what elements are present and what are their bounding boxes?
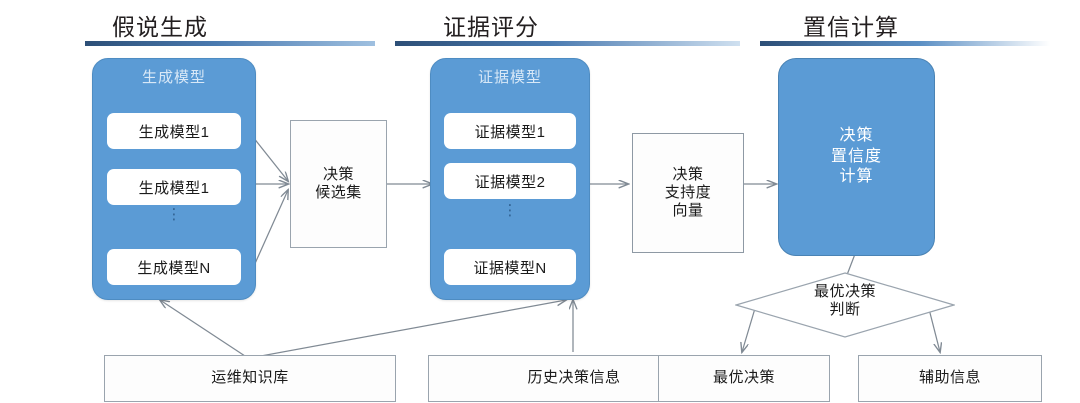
optimal-decision-judgment-line1: 最优决策 (735, 283, 955, 301)
generation-model-item-2[interactable]: 生成模型1 (107, 169, 241, 205)
optimal-decision-output-label: 最优决策 (713, 369, 775, 387)
evidence-model-group[interactable]: 证据模型 证据模型1 证据模型2 ⋮ 证据模型N (430, 58, 590, 300)
decision-confidence-line3: 计算 (839, 167, 873, 188)
optimal-decision-judgment-line2: 判断 (735, 301, 955, 319)
evidence-model-group-caption: 证据模型 (431, 66, 589, 87)
section-title-confidence: 置信计算 (803, 8, 899, 42)
section-rule-evidence (395, 41, 740, 46)
generation-model-group-caption: 生成模型 (93, 66, 255, 87)
decision-support-vector-line3: 向量 (672, 202, 703, 220)
auxiliary-info-output-label: 辅助信息 (919, 369, 981, 387)
decision-confidence-line1: 决策 (839, 126, 873, 147)
decision-confidence-line2: 置信度 (831, 147, 882, 168)
evidence-model-item-1[interactable]: 证据模型1 (444, 113, 576, 149)
auxiliary-info-output-box[interactable]: 辅助信息 (858, 355, 1042, 402)
decision-support-vector-line1: 决策 (672, 166, 703, 184)
generation-model-item-n[interactable]: 生成模型N (107, 249, 241, 285)
section-rule-confidence (760, 41, 1050, 46)
decision-candidate-set-line2: 候选集 (315, 184, 362, 202)
decision-support-vector-line2: 支持度 (665, 184, 712, 202)
generation-model-item-1[interactable]: 生成模型1 (107, 113, 241, 149)
decision-support-vector-box[interactable]: 决策 支持度 向量 (632, 133, 744, 253)
generation-model-group[interactable]: 生成模型 生成模型1 生成模型1 ⋮ 生成模型N (92, 58, 256, 300)
section-title-evidence: 证据评分 (443, 8, 539, 42)
decision-confidence-calculation-box[interactable]: 决策 置信度 计算 (778, 58, 935, 256)
generation-model-ellipsis: ⋮ (107, 211, 241, 239)
evidence-model-ellipsis: ⋮ (444, 207, 576, 235)
history-decision-info-label: 历史决策信息 (527, 369, 620, 387)
flow-diagram-canvas: 假说生成 证据评分 置信计算 (0, 0, 1080, 403)
knowledge-base-box[interactable]: 运维知识库 (104, 355, 396, 402)
knowledge-base-label: 运维知识库 (211, 369, 289, 387)
section-title-hypothesis: 假说生成 (112, 8, 208, 42)
evidence-model-item-2[interactable]: 证据模型2 (444, 163, 576, 199)
decision-candidate-set-line1: 决策 (323, 166, 354, 184)
evidence-model-item-n[interactable]: 证据模型N (444, 249, 576, 285)
section-rule-hypothesis (85, 41, 375, 46)
optimal-decision-judgment-label: 最优决策 判断 (735, 283, 955, 318)
decision-candidate-set-box[interactable]: 决策 候选集 (290, 120, 387, 248)
optimal-decision-output-box[interactable]: 最优决策 (658, 355, 830, 402)
